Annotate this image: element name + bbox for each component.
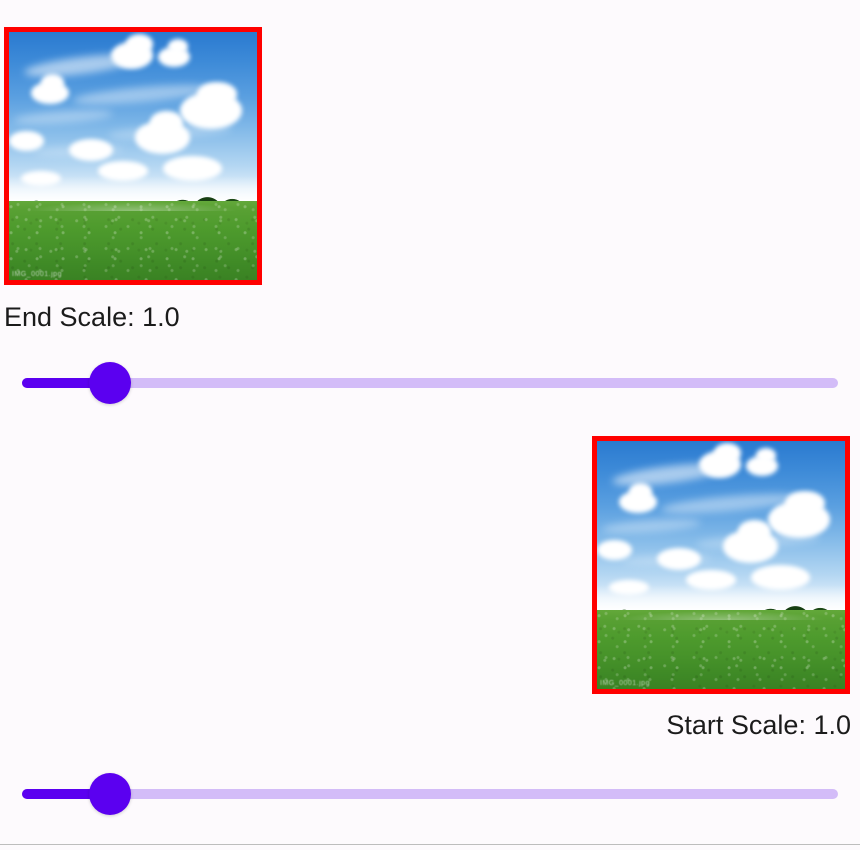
start-scale-image-frame: IMG_0001.jpg bbox=[592, 436, 850, 694]
start-scale-slider-thumb[interactable] bbox=[89, 773, 131, 815]
cumulus-cloud bbox=[9, 131, 44, 151]
cumulus-cloud bbox=[150, 111, 182, 133]
hill-crest-highlight bbox=[597, 607, 845, 619]
app-root: IMG_0001.jpg End Scale: 1.0 bbox=[0, 0, 860, 850]
grass-field bbox=[9, 201, 257, 280]
start-scale-label: Start Scale: 1.0 bbox=[666, 709, 851, 741]
start-scale-slider-track-inactive[interactable] bbox=[22, 789, 838, 799]
end-scale-slider[interactable] bbox=[0, 359, 860, 407]
cumulus-cloud bbox=[756, 448, 776, 463]
cumulus-cloud bbox=[714, 443, 741, 463]
cumulus-cloud bbox=[69, 139, 114, 161]
end-scale-slider-track-inactive[interactable] bbox=[22, 378, 838, 388]
cumulus-cloud bbox=[597, 540, 632, 560]
end-scale-image-frame: IMG_0001.jpg bbox=[4, 27, 262, 285]
cumulus-cloud bbox=[738, 520, 770, 542]
end-scale-label: End Scale: 1.0 bbox=[4, 301, 180, 333]
cumulus-cloud bbox=[657, 548, 702, 570]
cumulus-cloud bbox=[168, 39, 188, 54]
bottom-divider bbox=[0, 844, 860, 845]
grass-field bbox=[597, 610, 845, 689]
end-scale-slider-thumb[interactable] bbox=[89, 362, 131, 404]
cumulus-cloud bbox=[41, 74, 63, 91]
landscape-photo-end: IMG_0001.jpg bbox=[9, 32, 257, 280]
landscape-photo-start: IMG_0001.jpg bbox=[597, 441, 845, 689]
start-scale-slider[interactable] bbox=[0, 770, 860, 818]
cumulus-cloud bbox=[629, 483, 651, 500]
cumulus-cloud bbox=[126, 34, 153, 54]
hill-crest-highlight bbox=[9, 198, 257, 210]
